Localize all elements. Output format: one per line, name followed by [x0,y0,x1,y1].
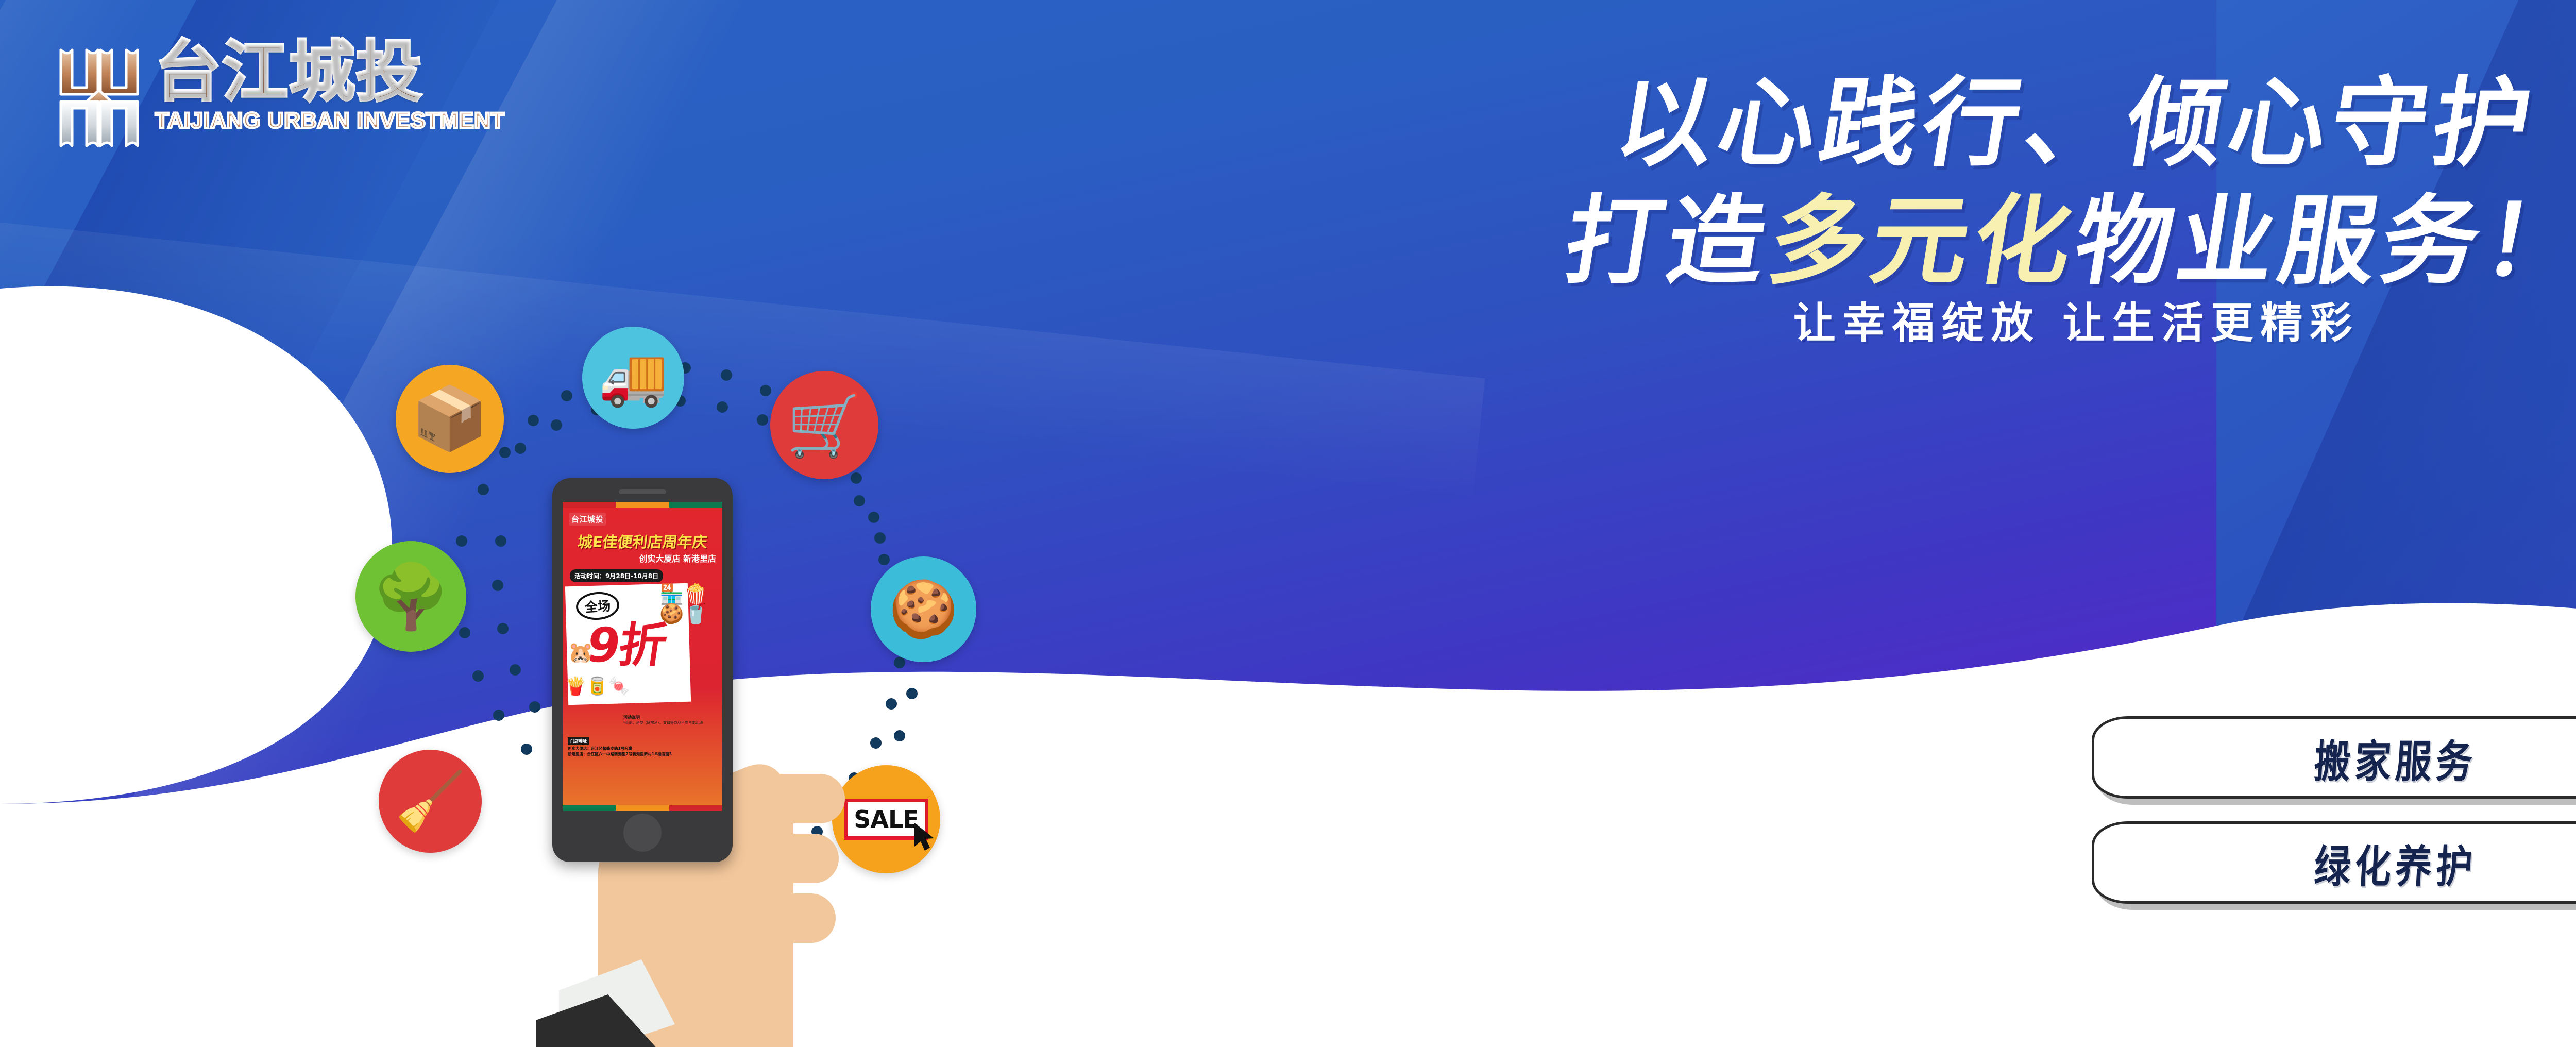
logo-chinese-name: 台江城投 [155,39,505,106]
phone-speaker [619,489,666,494]
smartphone-mockup: 台江城投 城E佳便利店周年庆 创实大厦店 新港里店 活动时间：9月28日-10月… [552,478,733,862]
poster-address: 创实大厦店：台江区鳌峰支路1号冠寓 新港里店：台江区六一中路新港里7号新港里新村… [568,746,719,757]
poster-stores: 创实大厦店 新港里店 [639,552,716,564]
headline-subtitle: 让幸福绽放 让生活更精彩 [1200,289,2576,350]
company-logo: 台江城投 TAIJIANG URBAN INVESTMENT [57,39,572,188]
logo-english-name: TAIJIANG URBAN INVESTMENT [155,108,505,133]
moving-box-icon: 📦 [396,365,504,473]
pill-label: 绿化养护 [2313,831,2479,895]
pill-landscaping[interactable]: 绿化养护 [2092,821,2576,904]
service-pill-grid: 搬家服务 商品零售 家政服务 绿化养护 停车服务 环境卫生 [2092,716,2576,904]
headline-line2-prefix: 打造 [1557,185,1780,298]
headline-line-1: 以心践行、倾心守护 [1191,64,2576,182]
poster-brand-tag: 台江城投 [569,513,606,526]
poster-discount: 9折 [584,623,669,668]
poster-address-title: 门店地址 [568,737,589,745]
taijiang-gate-emblem-icon [57,39,142,157]
headline-line-2: 打造多元化物业服务！ [1191,182,2576,300]
poster-goods-illustration: 🏪🍿🍪🥤 [659,585,719,652]
poster-title: 城E佳便利店周年庆 [563,530,722,552]
promo-banner: 台江城投 TAIJIANG URBAN INVESTMENT 以心践行、倾心守护… [0,0,2576,1047]
poster-address-line-2: 新港里店：台江区六一中路新港里7号新港里新村1#楼店面3 [568,751,719,757]
poster-bottom-stripe [563,805,722,811]
phone-screen[interactable]: 台江城投 城E佳便利店周年庆 创实大厦店 新港里店 活动时间：9月28日-10月… [563,502,722,811]
poster-period: 活动时间：9月28日-10月8日 [570,569,663,582]
poster-note: *香烟、酒类（除啤酒）、文具等商品不参与本活动 [623,721,719,725]
headline-line2-suffix: 物业服务！ [2067,185,2576,298]
cleaning-worker-icon: 🧹 [379,750,482,853]
pill-label: 搬家服务 [2313,725,2479,790]
phone-home-button[interactable] [623,814,662,852]
green-tree-icon: 🌳 [355,541,466,652]
promo-poster: 台江城投 城E佳便利店周年庆 创实大厦店 新港里店 活动时间：9月28日-10月… [563,508,722,805]
headline-block: 以心践行、倾心守护 打造多元化物业服务！ [1200,64,2576,301]
headline-accent: 多元化 [1761,185,2086,298]
pill-moving-service[interactable]: 搬家服务 [2092,716,2576,799]
poster-snacks-illustration: 🍟🥫🍬 [565,678,630,695]
poster-note-title: 活动说明 [623,715,640,720]
shopping-cart-icon: 🛒 [770,371,878,479]
phone-icon-cluster: 📦 🚚 🛒 🌳 🍪 🧹 SALE [350,319,1154,1047]
poster-address-line-1: 创实大厦店：台江区鳌峰支路1号冠寓 [568,746,719,751]
recycling-truck-icon: 🚚 [582,327,684,429]
poster-top-stripe [563,502,722,508]
poster-mascot-icon: 🐹 [568,643,594,663]
